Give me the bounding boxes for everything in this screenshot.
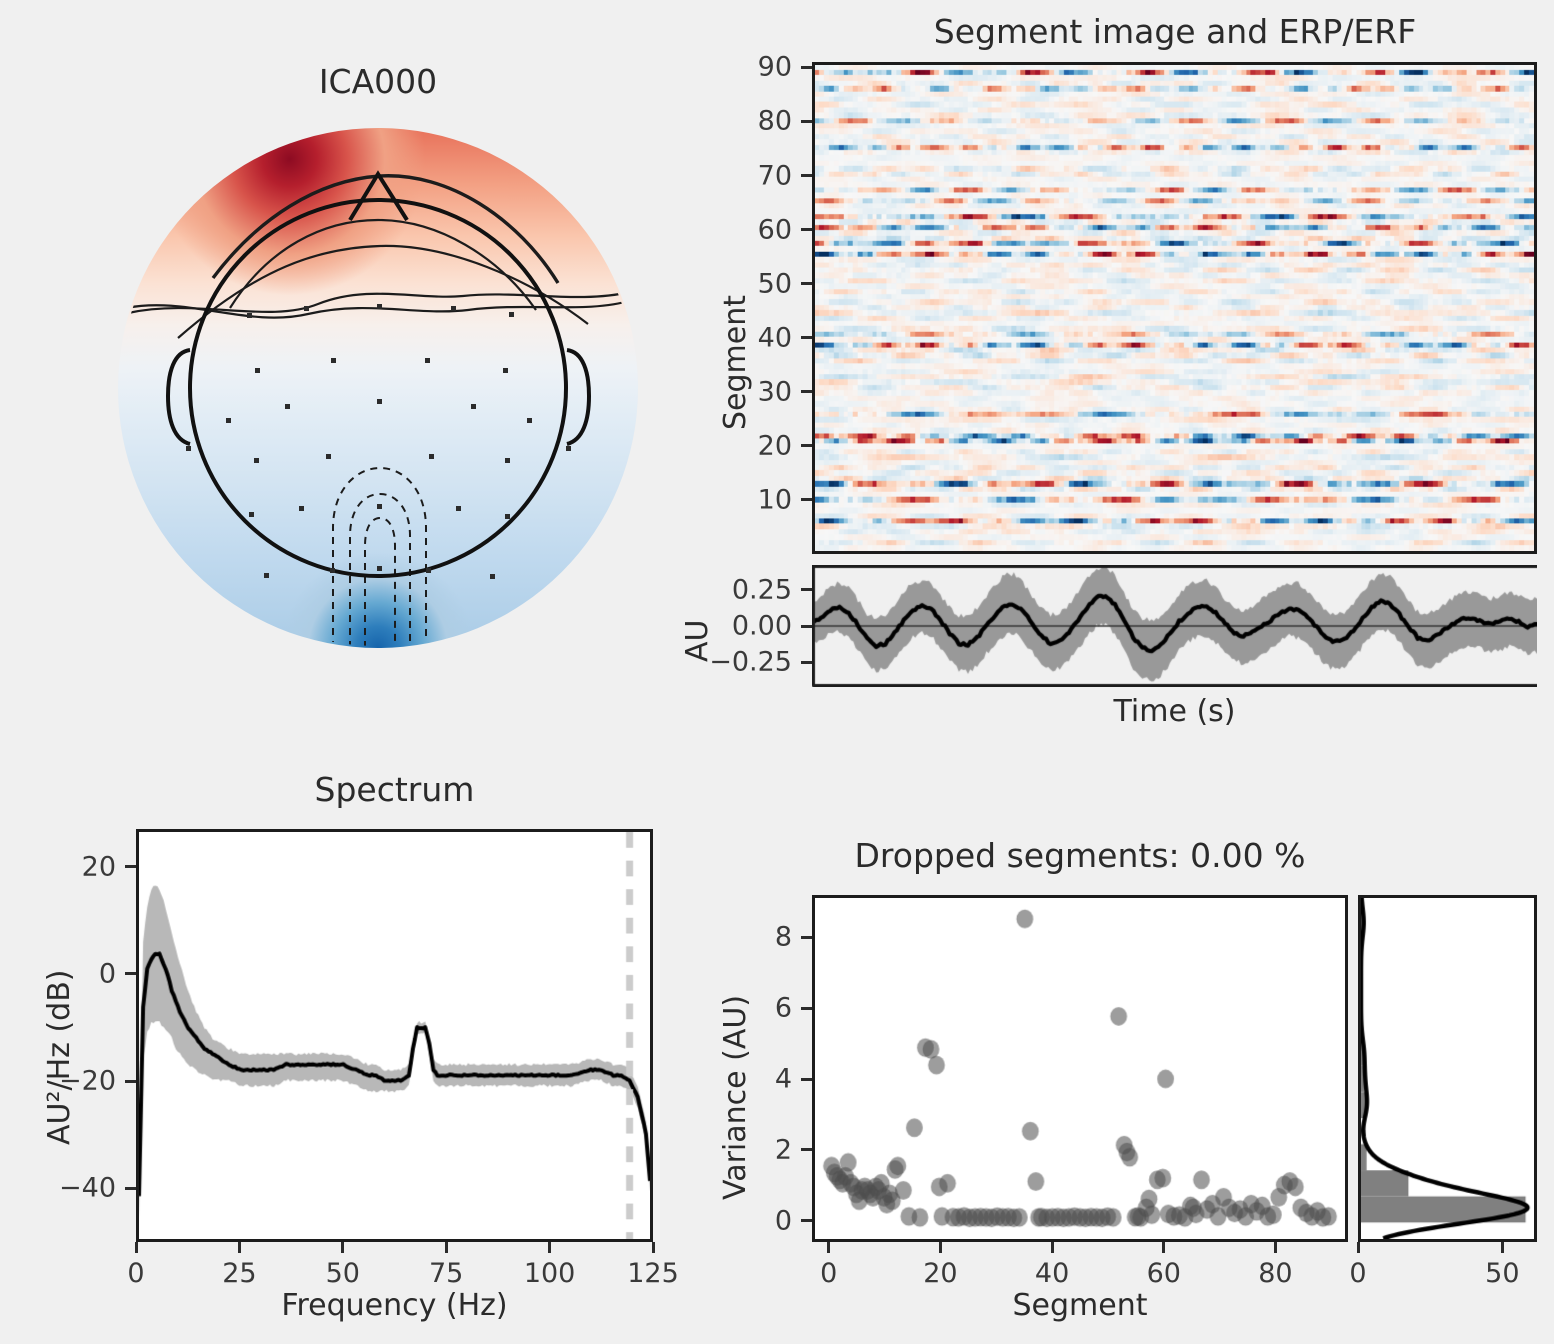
dropped-xtick-mark	[939, 1242, 942, 1253]
spectrum-ytick-1: 0	[99, 958, 116, 989]
dropped-xtick-60: 60	[1147, 1258, 1181, 1289]
spectrum-ytick-mark	[125, 1080, 136, 1083]
segment-tick-mark	[801, 228, 812, 231]
segment-image-ylabel: Segment	[718, 295, 753, 430]
erp-tick-mark	[801, 588, 812, 591]
nose-marker	[350, 174, 407, 220]
dropped-ytick-mark	[801, 1219, 812, 1222]
histogram-xtick-0: 0	[1349, 1258, 1366, 1289]
segment-tick-mark	[801, 66, 812, 69]
spectrum-ytick-mark	[125, 1187, 136, 1190]
spectrum-ytick-0: 20	[82, 851, 116, 882]
segment-tick-60: 60	[758, 214, 792, 245]
dropped-segments-title: Dropped segments: 0.00 %	[812, 836, 1348, 875]
segment-tick-mark	[801, 282, 812, 285]
segment-tick-40: 40	[758, 322, 792, 353]
variance-histogram-canvas	[1361, 898, 1534, 1239]
histogram-xtick-50: 50	[1485, 1258, 1519, 1289]
spectrum-xtick-125: 125	[627, 1258, 679, 1289]
histogram-xtick-mark	[1501, 1242, 1504, 1253]
segment-heatmap-canvas	[815, 65, 1534, 551]
spectrum-xtick-100: 100	[524, 1258, 576, 1289]
erp-tick-2: −0.25	[709, 647, 792, 678]
dropped-ytick-0: 0	[775, 1205, 792, 1236]
segment-tick-mark	[801, 498, 812, 501]
dropped-xtick-40: 40	[1035, 1258, 1069, 1289]
topomap-plot	[118, 128, 638, 648]
ear-right	[567, 350, 589, 444]
dropped-segments-plot	[812, 895, 1348, 1242]
spectrum-xtick-mark	[548, 1242, 551, 1253]
spectrum-xlabel: Frequency (Hz)	[136, 1288, 653, 1323]
dropped-ytick-8: 8	[775, 922, 792, 953]
topomap-outline-svg	[118, 128, 638, 648]
segment-tick-mark	[801, 444, 812, 447]
spectrum-xtick-mark	[652, 1242, 655, 1253]
dropped-xtick-mark	[1162, 1242, 1165, 1253]
sensor-markers	[186, 304, 571, 579]
spectrum-ytick-mark	[125, 972, 136, 975]
histogram-xtick-mark	[1357, 1242, 1360, 1253]
segment-tick-30: 30	[758, 376, 792, 407]
spectrum-xtick-50: 50	[326, 1258, 360, 1289]
segment-image-title: Segment image and ERP/ERF	[780, 12, 1554, 51]
spectrum-xtick-0: 0	[127, 1258, 144, 1289]
dropped-ytick-mark	[801, 1078, 812, 1081]
dropped-ytick-mark	[801, 936, 812, 939]
spectrum-xtick-75: 75	[429, 1258, 463, 1289]
segment-tick-mark	[801, 120, 812, 123]
erp-plot	[812, 565, 1537, 687]
segment-tick-mark	[801, 336, 812, 339]
segment-tick-50: 50	[758, 268, 792, 299]
dropped-xtick-80: 80	[1258, 1258, 1292, 1289]
erp-tick-mark	[801, 661, 812, 664]
spectrum-canvas	[139, 832, 650, 1239]
dropped-ytick-2: 2	[775, 1134, 792, 1165]
topomap-title: ICA000	[118, 62, 638, 101]
dropped-ytick-4: 4	[775, 1064, 792, 1095]
segment-tick-90: 90	[758, 52, 792, 83]
spectrum-title: Spectrum	[136, 770, 653, 809]
spectrum-xtick-25: 25	[222, 1258, 256, 1289]
erp-tick-mark	[801, 625, 812, 628]
segment-tick-10: 10	[758, 484, 792, 515]
dropped-xlabel: Segment	[812, 1288, 1348, 1323]
spectrum-ylabel: AU²/Hz (dB)	[42, 970, 77, 1146]
spectrum-xtick-mark	[135, 1242, 138, 1253]
erp-canvas	[812, 565, 1537, 687]
dropped-scatter-canvas	[815, 898, 1345, 1239]
segment-tick-80: 80	[758, 106, 792, 137]
spectrum-ytick-mark	[125, 865, 136, 868]
dropped-ytick-6: 6	[775, 993, 792, 1024]
spectrum-xtick-mark	[445, 1242, 448, 1253]
spectrum-xtick-mark	[238, 1242, 241, 1253]
segment-tick-mark	[801, 390, 812, 393]
dropped-xtick-mark	[827, 1242, 830, 1253]
segment-tick-70: 70	[758, 160, 792, 191]
segment-tick-mark	[801, 174, 812, 177]
erp-tick-1: 0.00	[732, 611, 792, 642]
head-circle	[190, 200, 566, 576]
spectrum-ytick-2: −20	[59, 1066, 116, 1097]
dropped-xtick-mark	[1051, 1242, 1054, 1253]
dropped-xtick-0: 0	[820, 1258, 837, 1289]
dropped-xtick-mark	[1274, 1242, 1277, 1253]
variance-histogram-plot	[1358, 895, 1537, 1242]
dropped-xtick-20: 20	[923, 1258, 957, 1289]
dropped-ytick-mark	[801, 1148, 812, 1151]
erp-tick-0: 0.25	[732, 574, 792, 605]
segment-image-plot	[812, 62, 1537, 554]
negative-contours	[333, 468, 426, 648]
ear-left	[168, 350, 190, 444]
spectrum-ytick-3: −40	[59, 1173, 116, 1204]
spectrum-plot	[136, 829, 653, 1242]
dropped-ytick-mark	[801, 1007, 812, 1010]
spectrum-xtick-mark	[341, 1242, 344, 1253]
dropped-ylabel: Variance (AU)	[718, 995, 753, 1200]
segment-tick-20: 20	[758, 430, 792, 461]
erp-xlabel: Time (s)	[812, 694, 1537, 729]
